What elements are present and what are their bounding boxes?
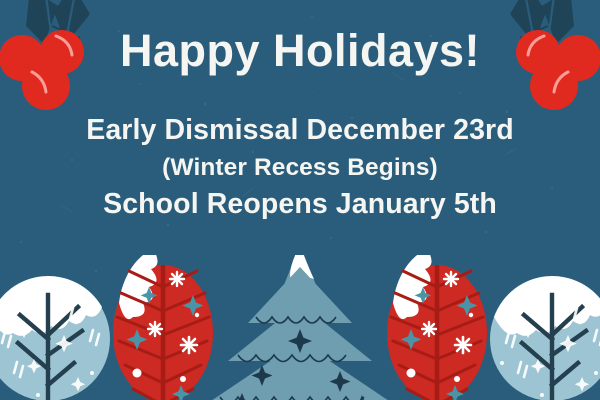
- tree-red-left: [113, 255, 213, 400]
- tree-pine-center: [208, 255, 392, 400]
- winter-tree-border: [0, 255, 600, 400]
- announcement-text: Early Dismissal December 23rd (Winter Re…: [0, 112, 600, 224]
- tree-round-right: [490, 276, 600, 400]
- page-title: Happy Holidays!: [0, 28, 600, 73]
- tree-red-right: [387, 255, 487, 400]
- tree-round-left: [0, 276, 110, 400]
- announcement-line-1: Early Dismissal December 23rd: [0, 112, 600, 150]
- holiday-poster: Happy Holidays! Early Dismissal December…: [0, 0, 600, 400]
- announcement-line-3: School Reopens January 5th: [0, 186, 600, 224]
- announcement-line-2: (Winter Recess Begins): [0, 150, 600, 187]
